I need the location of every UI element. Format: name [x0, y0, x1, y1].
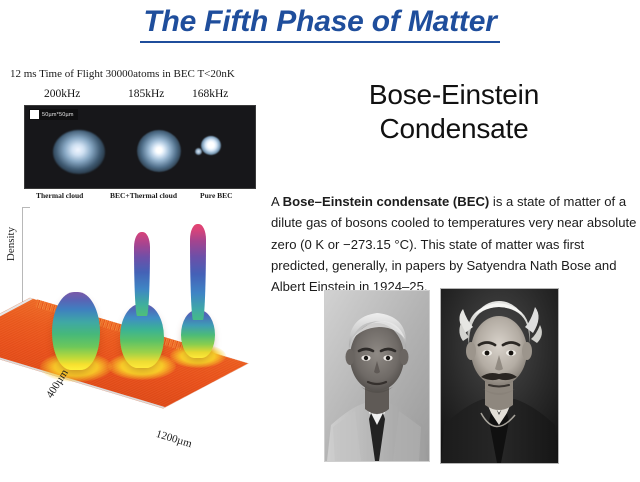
bec-heading-line-2: Condensate: [272, 112, 636, 146]
density-peak-spike: [190, 224, 206, 320]
sublabel-thermal-cloud: Thermal cloud: [36, 191, 83, 200]
sublabel-bec-thermal-cloud: BEC+Thermal cloud: [110, 191, 177, 200]
frequency-label-185khz: 185kHz: [128, 88, 164, 100]
page-title: The Fifth Phase of Matter: [0, 4, 640, 43]
einstein-portrait-image: [441, 289, 558, 463]
paragraph-bold-term: Bose–Einstein condensate (BEC): [283, 194, 490, 209]
density-axis-label: Density: [5, 214, 17, 274]
time-of-flight-figure: 12 ms Time of Flight 30000atoms in BEC T…: [10, 68, 280, 205]
bec-heading-line-1: Bose-Einstein: [272, 78, 636, 112]
cloud-image-thermal: [53, 130, 105, 174]
absorption-image-panel: 50µm*50µm: [24, 105, 256, 189]
density-surface-plot: 400µm 1200µm: [30, 218, 275, 408]
density-peak-spike: [134, 232, 150, 316]
density-surface-figure: Density 400µm 1200µm: [0, 200, 300, 455]
cloud-image-pure-bec: [201, 136, 221, 155]
frequency-label-168khz: 168kHz: [192, 88, 228, 100]
paragraph-rest: is a state of matter of a dilute gas of …: [271, 194, 636, 294]
bose-portrait-image: [325, 291, 429, 461]
sublabel-pure-bec: Pure BEC: [200, 191, 233, 200]
frequency-label-200khz: 200kHz: [44, 88, 80, 100]
portrait-satyendra-nath-bose: [324, 290, 430, 462]
scale-bar: 50µm*50µm: [29, 109, 78, 120]
bec-description-paragraph: A Bose–Einstein condensate (BEC) is a st…: [271, 191, 637, 298]
width-axis-label: 1200µm: [154, 428, 193, 450]
page-title-text: The Fifth Phase of Matter: [140, 4, 499, 43]
cloud-image-bec-thermal: [137, 130, 181, 172]
portrait-albert-einstein: [440, 288, 559, 464]
frequency-label-row: 200kHz 185kHz 168kHz: [24, 88, 280, 105]
bec-heading: Bose-Einstein Condensate: [272, 78, 636, 146]
tof-caption: 12 ms Time of Flight 30000atoms in BEC T…: [10, 68, 280, 80]
density-peak-body: [52, 292, 100, 370]
scale-bar-label: 50µm*50µm: [42, 112, 74, 118]
paragraph-lead: A: [271, 194, 283, 209]
scale-bar-square-icon: [30, 110, 39, 119]
